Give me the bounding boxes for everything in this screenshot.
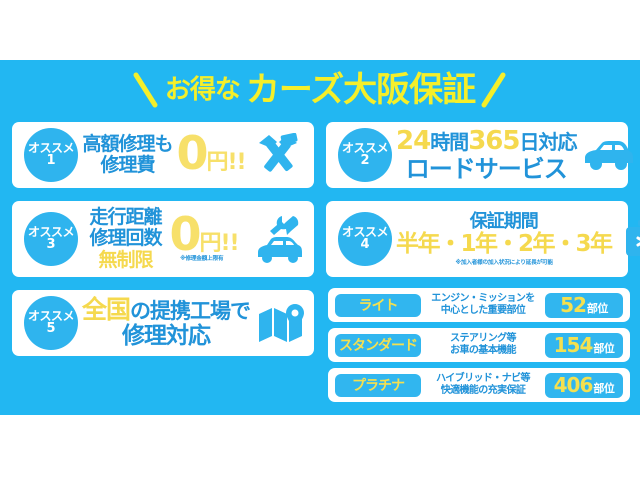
plan-count-unit: 部位	[593, 380, 614, 396]
card5-line1-rest: の提携工場で	[130, 299, 250, 323]
card1-amount: 0 円!!	[176, 134, 245, 176]
title-prefix: お得な	[165, 77, 240, 103]
feature-card-1-body: 高額修理も 修理費 0 円!!	[78, 134, 250, 177]
plan-name-pill: スタンダード	[335, 334, 421, 357]
plan-name-pill: ライト	[335, 294, 421, 317]
plan-count-badge: 154 部位	[545, 333, 623, 358]
recommend-badge-2: オススメ 2	[338, 128, 392, 182]
feature-card-2-body: 24時間365日対応 ロードサービス	[392, 127, 580, 183]
map-pin-icon	[254, 302, 310, 344]
plan-description: ステアリング等 お車の基本機能	[421, 333, 545, 357]
warranty-poster: お得な カーズ大阪保証 オススメ 1 高額修理も 修理費 0 円!!	[0, 0, 640, 480]
feature-card-5: オススメ 5 全国の提携工場で 修理対応	[12, 290, 314, 356]
card3-line3: 無制限	[98, 250, 152, 271]
recommend-badge-5: オススメ 5	[24, 296, 78, 350]
badge-number: 5	[46, 322, 55, 336]
feature-card-3-text: 走行距離 修理回数 無制限	[89, 207, 161, 271]
feature-card-2-text: 24時間365日対応 ロードサービス	[396, 127, 576, 183]
card3-line2: 修理回数	[89, 228, 161, 249]
recommend-badge-1: オススメ 1	[24, 128, 78, 182]
card3-amount: 0 円!!	[169, 215, 238, 257]
slash-right-icon	[481, 71, 507, 109]
badge-number: 2	[360, 154, 369, 168]
feature-card-1-text: 高額修理も 修理費	[82, 134, 172, 177]
card3-amount-number: 0	[169, 215, 199, 254]
plan-row-standard[interactable]: スタンダード ステアリング等 お車の基本機能 154 部位	[328, 328, 630, 362]
plan-desc-line1: ハイブリッド・ナビ等	[424, 373, 542, 385]
feature-card-3: オススメ 3 走行距離 修理回数 無制限 0 円!! ※修理金額上限有	[12, 201, 314, 277]
card1-line1: 高額修理も	[82, 134, 172, 155]
badge-number: 4	[360, 238, 369, 252]
plan-count-number: 52	[560, 293, 586, 317]
wrench-car-icon	[250, 214, 306, 264]
plan-count-number: 154	[554, 333, 593, 357]
plan-desc-line1: エンジン・ミッションを	[424, 293, 542, 305]
feature-card-4: オススメ 4 保証期間 半年・1年・2年・3年 ※加入者様の加入状況により延長が…	[326, 201, 628, 277]
plan-description: ハイブリッド・ナビ等 快適機能の充実保証	[421, 373, 545, 397]
feature-card-3-body: 走行距離 修理回数 無制限 0 円!! ※修理金額上限有	[78, 207, 250, 271]
badge-number: 1	[46, 154, 55, 168]
card1-amount-number: 0	[176, 134, 206, 173]
plan-description: エンジン・ミッションを 中心とした重要部位	[421, 293, 545, 317]
plan-count-unit: 部位	[587, 300, 608, 316]
card3-amount-group: 0 円!! ※修理金額上限有	[165, 215, 238, 263]
card2-hours-number: 24	[396, 126, 430, 156]
card2-days-number: 365	[468, 126, 519, 156]
card2-line2: ロードサービス	[406, 156, 567, 183]
plan-row-light[interactable]: ライト エンジン・ミッションを 中心とした重要部位 52 部位	[328, 288, 630, 322]
card4-line1: 保証期間	[470, 212, 538, 232]
feature-card-1: オススメ 1 高額修理も 修理費 0 円!!	[12, 122, 314, 188]
toolbox-icon	[616, 217, 640, 261]
hammer-tools-icon	[250, 133, 306, 177]
slash-left-icon	[133, 71, 159, 109]
card1-amount-unit: 円!!	[206, 144, 245, 176]
card4-line2: 半年・1年・2年・3年	[396, 232, 612, 258]
card2-days-unit: 日対応	[519, 130, 576, 154]
card2-hours-unit: 時間	[430, 130, 468, 154]
feature-card-4-text: 保証期間 半年・1年・2年・3年 ※加入者様の加入状況により延長が可能	[396, 212, 612, 267]
recommend-badge-3: オススメ 3	[24, 212, 78, 266]
card3-amount-unit: 円!!	[199, 232, 238, 257]
badge-number: 3	[46, 238, 55, 252]
card3-note: ※修理金額上限有	[180, 257, 223, 263]
plan-desc-line1: ステアリング等	[424, 333, 542, 345]
card2-line1: 24時間365日対応	[396, 127, 576, 156]
card5-line1-highlight: 全国	[82, 295, 130, 324]
title-main: カーズ大阪保証	[246, 73, 475, 107]
plan-desc-line2: お車の基本機能	[424, 345, 542, 357]
card5-line1: 全国の提携工場で	[82, 296, 250, 324]
plan-count-badge: 52 部位	[545, 293, 623, 318]
car-side-icon	[580, 138, 636, 172]
feature-card-4-body: 保証期間 半年・1年・2年・3年 ※加入者様の加入状況により延長が可能	[392, 212, 616, 267]
plan-count-badge: 406 部位	[545, 373, 623, 398]
plan-desc-line2: 中心とした重要部位	[424, 305, 542, 317]
poster-title: お得な カーズ大阪保証	[0, 66, 640, 114]
plan-desc-line2: 快適機能の充実保証	[424, 385, 542, 397]
card5-line2: 修理対応	[122, 324, 210, 350]
card4-note: ※加入者様の加入状況により延長が可能	[455, 260, 552, 266]
plan-row-platinum[interactable]: プラチナ ハイブリッド・ナビ等 快適機能の充実保証 406 部位	[328, 368, 630, 402]
feature-card-5-body: 全国の提携工場で 修理対応	[78, 296, 254, 350]
recommend-badge-4: オススメ 4	[338, 212, 392, 266]
feature-card-2: オススメ 2 24時間365日対応 ロードサービス	[326, 122, 628, 188]
plan-name-pill: プラチナ	[335, 374, 421, 397]
feature-card-5-text: 全国の提携工場で 修理対応	[82, 296, 250, 350]
plan-count-number: 406	[554, 373, 593, 397]
plan-count-unit: 部位	[593, 340, 614, 356]
card3-line1: 走行距離	[89, 207, 161, 228]
card1-line2: 修理費	[100, 155, 154, 176]
